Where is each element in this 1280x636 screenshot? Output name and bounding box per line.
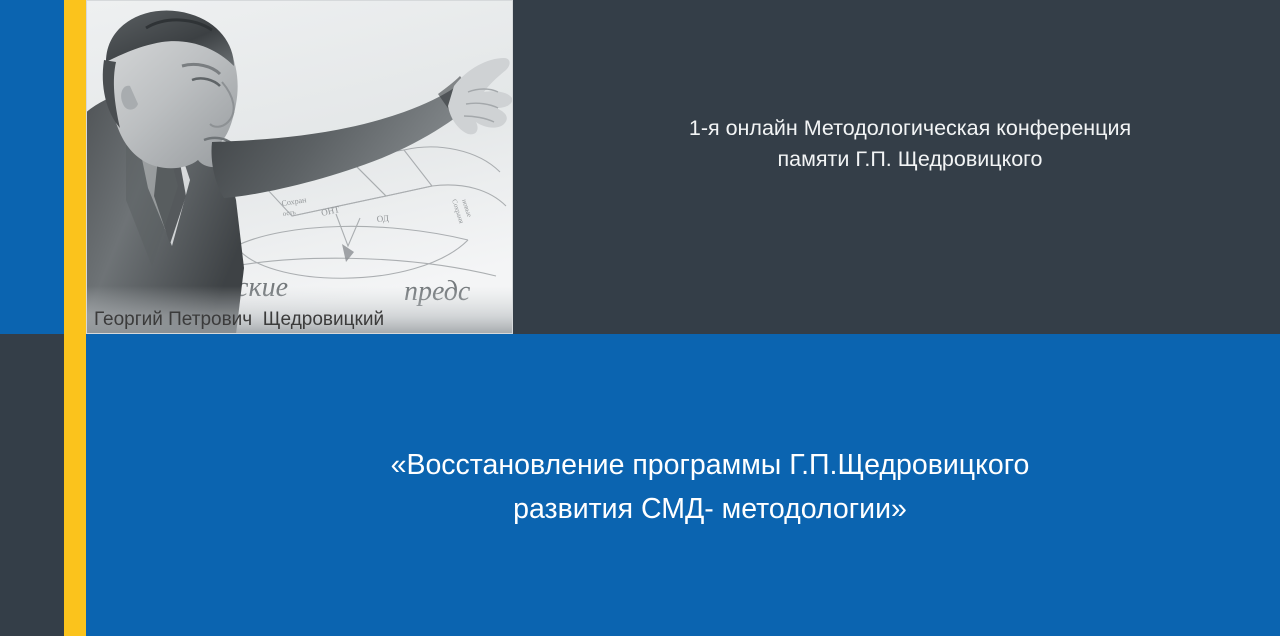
yellow-accent-stripe bbox=[64, 0, 86, 636]
page-title-line-2: развития СМД- методологии» bbox=[180, 487, 1240, 531]
left-blue-panel bbox=[0, 0, 64, 334]
conference-heading-line-1: 1-я онлайн Методологическая конференция bbox=[560, 113, 1260, 144]
portrait-photo: Сохран ость ОНТ ОД Сохраня новые еские п… bbox=[86, 0, 513, 334]
photo-caption: Георгий Петрович Щедровицкий bbox=[94, 309, 384, 331]
page-title-line-1: «Восстановление программы Г.П.Щедровицко… bbox=[180, 443, 1240, 487]
conference-heading: 1-я онлайн Методологическая конференция … bbox=[560, 113, 1260, 175]
page-title: «Восстановление программы Г.П.Щедровицко… bbox=[180, 443, 1240, 531]
portrait-photo-image: Сохран ость ОНТ ОД Сохраня новые еские п… bbox=[86, 0, 513, 334]
presentation-slide: Сохран ость ОНТ ОД Сохраня новые еские п… bbox=[0, 0, 1280, 636]
svg-text:ОД: ОД bbox=[376, 213, 389, 224]
left-dark-panel bbox=[0, 334, 64, 636]
conference-heading-line-2: памяти Г.П. Щедровицкого bbox=[560, 144, 1260, 175]
